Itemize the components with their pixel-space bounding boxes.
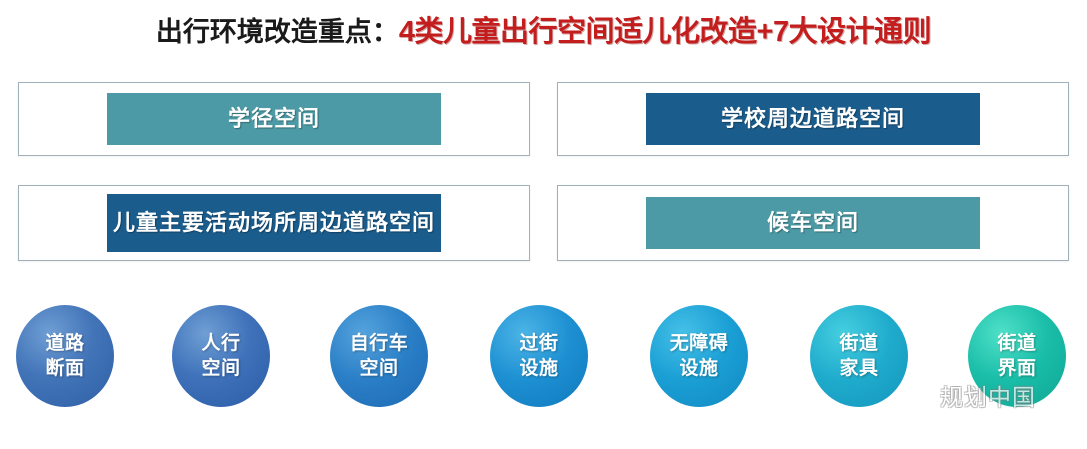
category-box-1-label: 学径空间 (107, 93, 441, 145)
page-title-primary: 出行环境改造重点： (156, 10, 399, 49)
principle-circle-road-section-line2: 断面 (45, 356, 84, 381)
principle-circle-road-section-line1: 道路 (45, 331, 84, 356)
category-box-4[interactable]: 候车空间 (557, 185, 1069, 261)
watermark-label: 规划中国 (940, 378, 1036, 412)
principle-circle-pedestrian-space[interactable]: 人行 空间 (172, 305, 270, 407)
principle-circle-crossing-facility-line2: 设施 (519, 356, 558, 381)
category-box-2-label: 学校周边道路空间 (646, 93, 980, 145)
principle-circle-bicycle-space-line1: 自行车 (350, 331, 409, 356)
principle-circle-pedestrian-space-line1: 人行 (201, 331, 240, 356)
page-title-highlight: 4类儿童出行空间适儿化改造+7大设计通则 (399, 8, 931, 50)
category-box-1[interactable]: 学径空间 (18, 82, 530, 156)
watermark: 规划中国 (898, 378, 1036, 412)
principle-circle-street-interface-line1: 街道 (997, 331, 1036, 356)
principle-circle-crossing-facility-line1: 过街 (519, 331, 558, 356)
category-box-grid: 学径空间 学校周边道路空间 儿童主要活动场所周边道路空间 候车空间 (18, 82, 1069, 266)
principle-circle-barrier-free-facility-line1: 无障碍 (670, 331, 729, 356)
wechat-icon (898, 381, 932, 409)
category-box-3-label: 儿童主要活动场所周边道路空间 (107, 194, 441, 252)
principle-circle-barrier-free-facility-line2: 设施 (679, 356, 718, 381)
principle-circle-street-furniture-line1: 街道 (839, 331, 878, 356)
principle-circle-bicycle-space[interactable]: 自行车 空间 (330, 305, 428, 407)
category-box-3[interactable]: 儿童主要活动场所周边道路空间 (18, 185, 530, 261)
principle-circle-street-furniture-line2: 家具 (839, 356, 878, 381)
principle-circle-bicycle-space-line2: 空间 (359, 356, 398, 381)
page-title: 出行环境改造重点： 4类儿童出行空间适儿化改造+7大设计通则 (0, 8, 1087, 50)
principle-circle-crossing-facility[interactable]: 过街 设施 (490, 305, 588, 407)
principle-circle-pedestrian-space-line2: 空间 (201, 356, 240, 381)
principle-circle-road-section[interactable]: 道路 断面 (16, 305, 114, 407)
principle-circle-street-furniture[interactable]: 街道 家具 (810, 305, 908, 407)
category-box-2[interactable]: 学校周边道路空间 (557, 82, 1069, 156)
principle-circle-barrier-free-facility[interactable]: 无障碍 设施 (650, 305, 748, 407)
category-box-4-label: 候车空间 (646, 197, 980, 249)
